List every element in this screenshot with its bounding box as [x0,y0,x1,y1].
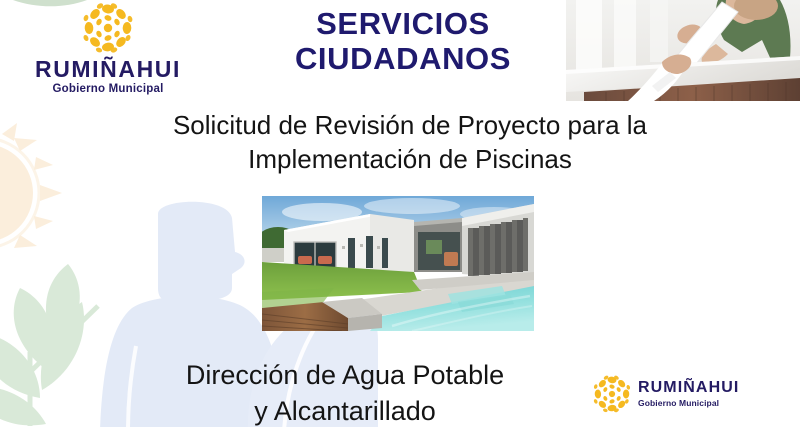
slide-canvas: SERVICIOS CIUDADANOS [0,0,800,427]
department-name: Dirección de Agua Potable y Alcantarilla… [120,358,570,427]
document-handover-photo [566,0,800,101]
department-line2: y Alcantarillado [120,394,570,427]
brand-tagline: Gobierno Municipal [638,398,739,408]
page-title: SERVICIOS CIUDADANOS [238,6,568,76]
subtitle-line1: Solicitud de Revisión de Proyecto para l… [120,108,700,142]
brand-wordmark: RUMIÑAHUI [638,380,739,396]
flower-sun-mark-icon [592,374,632,414]
brand-logo-footer-text: RUMIÑAHUI Gobierno Municipal [638,380,739,408]
brand-logo-footer: RUMIÑAHUI Gobierno Municipal [592,372,767,416]
brand-logo: RUMIÑAHUI Gobierno Municipal [18,2,198,95]
subtitle-line2: Implementación de Piscinas [120,142,700,176]
page-title-line1: SERVICIOS [238,6,568,41]
brand-wordmark: RUMIÑAHUI [18,58,198,81]
flower-sun-mark-icon [81,2,135,54]
brand-tagline: Gobierno Municipal [18,83,198,95]
house-with-pool-photo [262,196,534,331]
page-title-line2: CIUDADANOS [238,41,568,76]
subtitle: Solicitud de Revisión de Proyecto para l… [120,108,700,177]
department-line1: Dirección de Agua Potable [120,358,570,394]
sun-graphic-icon [0,108,92,278]
